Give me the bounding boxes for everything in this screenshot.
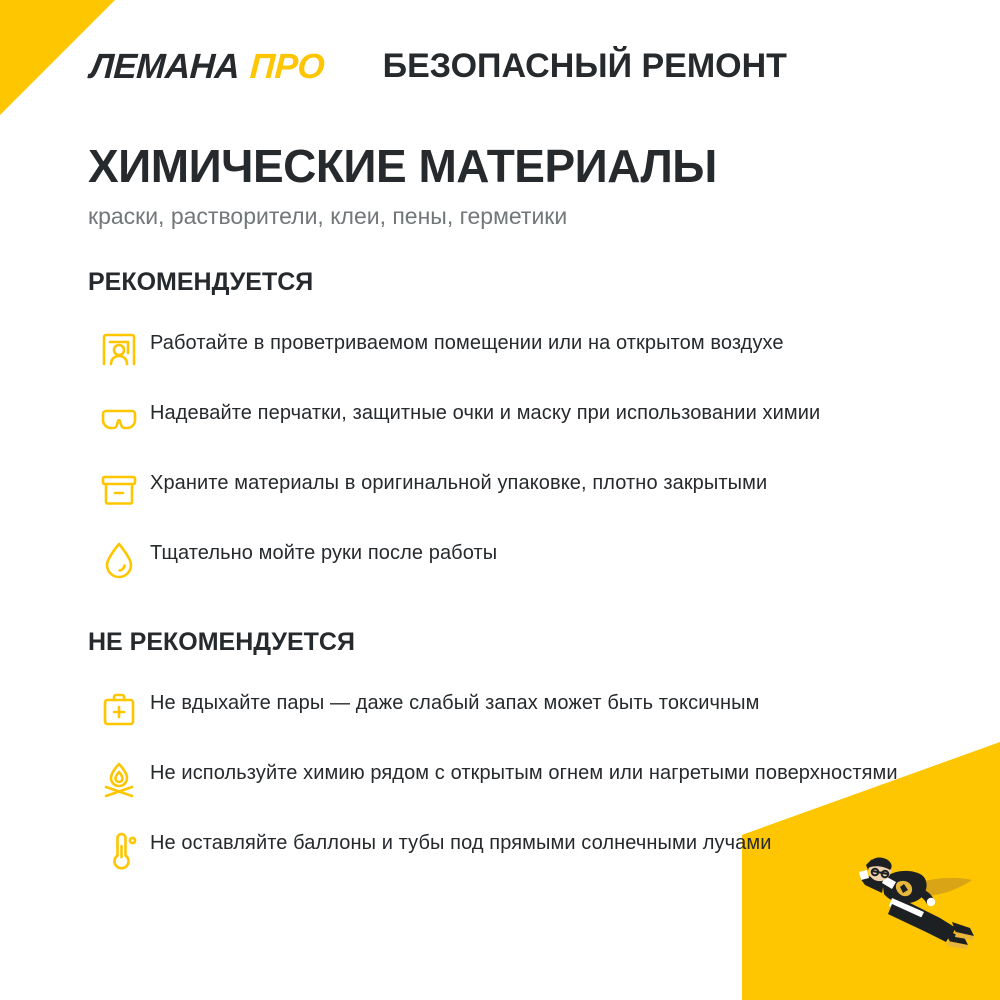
list-item-label: Не оставляйте баллоны и тубы под прямыми… [150,819,772,857]
page-subtitle: краски, растворители, клеи, пены, гермет… [88,203,567,230]
page-title: ХИМИЧЕСКИЕ МАТЕРИАЛЫ [88,143,717,189]
safety-goggles-icon [88,389,150,449]
flying-superhero-mascot [832,838,982,958]
list-item: Не оставляйте баллоны и тубы под прямыми… [88,819,920,879]
list-item: Храните материалы в оригинальной упаковк… [88,459,920,519]
list-item: Не вдыхайте пары — даже слабый запах мож… [88,679,920,739]
header-tagline: БЕЗОПАСНЫЙ РЕМОНТ [383,47,787,86]
list-item: Тщательно мойте руки после работы [88,529,920,589]
section-not-recommended: НЕ РЕКОМЕНДУЕТСЯ Не вдыхайте пары — даже… [88,628,920,889]
first-aid-kit-icon [88,679,150,739]
section-heading-not-recommended: НЕ РЕКОМЕНДУЕТСЯ [88,628,920,657]
logo-text-primary: ЛЕМАНА [89,49,240,84]
list-item-label: Не используйте химию рядом с открытым ог… [150,749,898,787]
poster-canvas: ЛЕМАНА ПРО БЕЗОПАСНЫЙ РЕМОНТ ХИМИЧЕСКИЕ … [0,0,1000,1000]
list-item-label: Тщательно мойте руки после работы [150,529,497,567]
list-item-label: Работайте в проветриваемом помещении или… [150,319,784,357]
list-item: Работайте в проветриваемом помещении или… [88,319,920,379]
list-item-label: Храните материалы в оригинальной упаковк… [150,459,767,497]
poster-header: ЛЕМАНА ПРО БЕЗОПАСНЫЙ РЕМОНТ [90,41,930,91]
section-heading-recommended: РЕКОМЕНДУЕТСЯ [88,268,920,297]
campfire-flame-icon [88,749,150,809]
thermometer-icon [88,819,150,879]
list-item-label: Не вдыхайте пары — даже слабый запах мож… [150,679,760,717]
list-item: Надевайте перчатки, защитные очки и маск… [88,389,920,449]
section-recommended: РЕКОМЕНДУЕТСЯ Работайте в проветриваемом… [88,268,920,599]
water-drop-icon [88,529,150,589]
logo-text-secondary: ПРО [249,49,325,84]
brand-logo: ЛЕМАНА ПРО [90,49,325,84]
open-window-person-icon [88,319,150,379]
list-item: Не используйте химию рядом с открытым ог… [88,749,920,809]
list-item-label: Надевайте перчатки, защитные очки и маск… [150,389,820,427]
storage-box-icon [88,459,150,519]
